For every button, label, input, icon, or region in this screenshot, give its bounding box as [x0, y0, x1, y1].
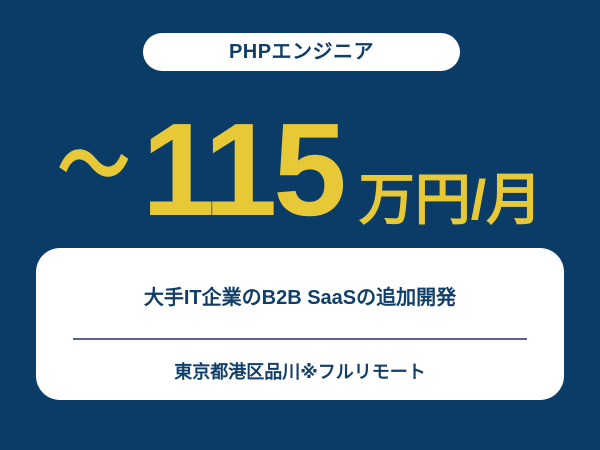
- salary-unit: 万円/月: [359, 172, 543, 228]
- job-location: 東京都港区品川※フルリモート: [174, 362, 426, 384]
- card-divider: [73, 338, 527, 340]
- job-info-card: 大手IT企業のB2B SaaSの追加開発 東京都港区品川※フルリモート: [36, 248, 564, 400]
- role-badge: PHPエンジニア: [143, 33, 460, 71]
- role-badge-label: PHPエンジニア: [229, 42, 374, 62]
- approx-symbol: 〜: [58, 122, 130, 212]
- job-offer-card: PHPエンジニア 〜 115 万円/月 大手IT企業のB2B SaaSの追加開発…: [0, 0, 600, 450]
- salary-display: 〜 115 万円/月: [0, 104, 600, 230]
- salary-amount: 115: [142, 104, 343, 236]
- job-title: 大手IT企業のB2B SaaSの追加開発: [144, 286, 456, 310]
